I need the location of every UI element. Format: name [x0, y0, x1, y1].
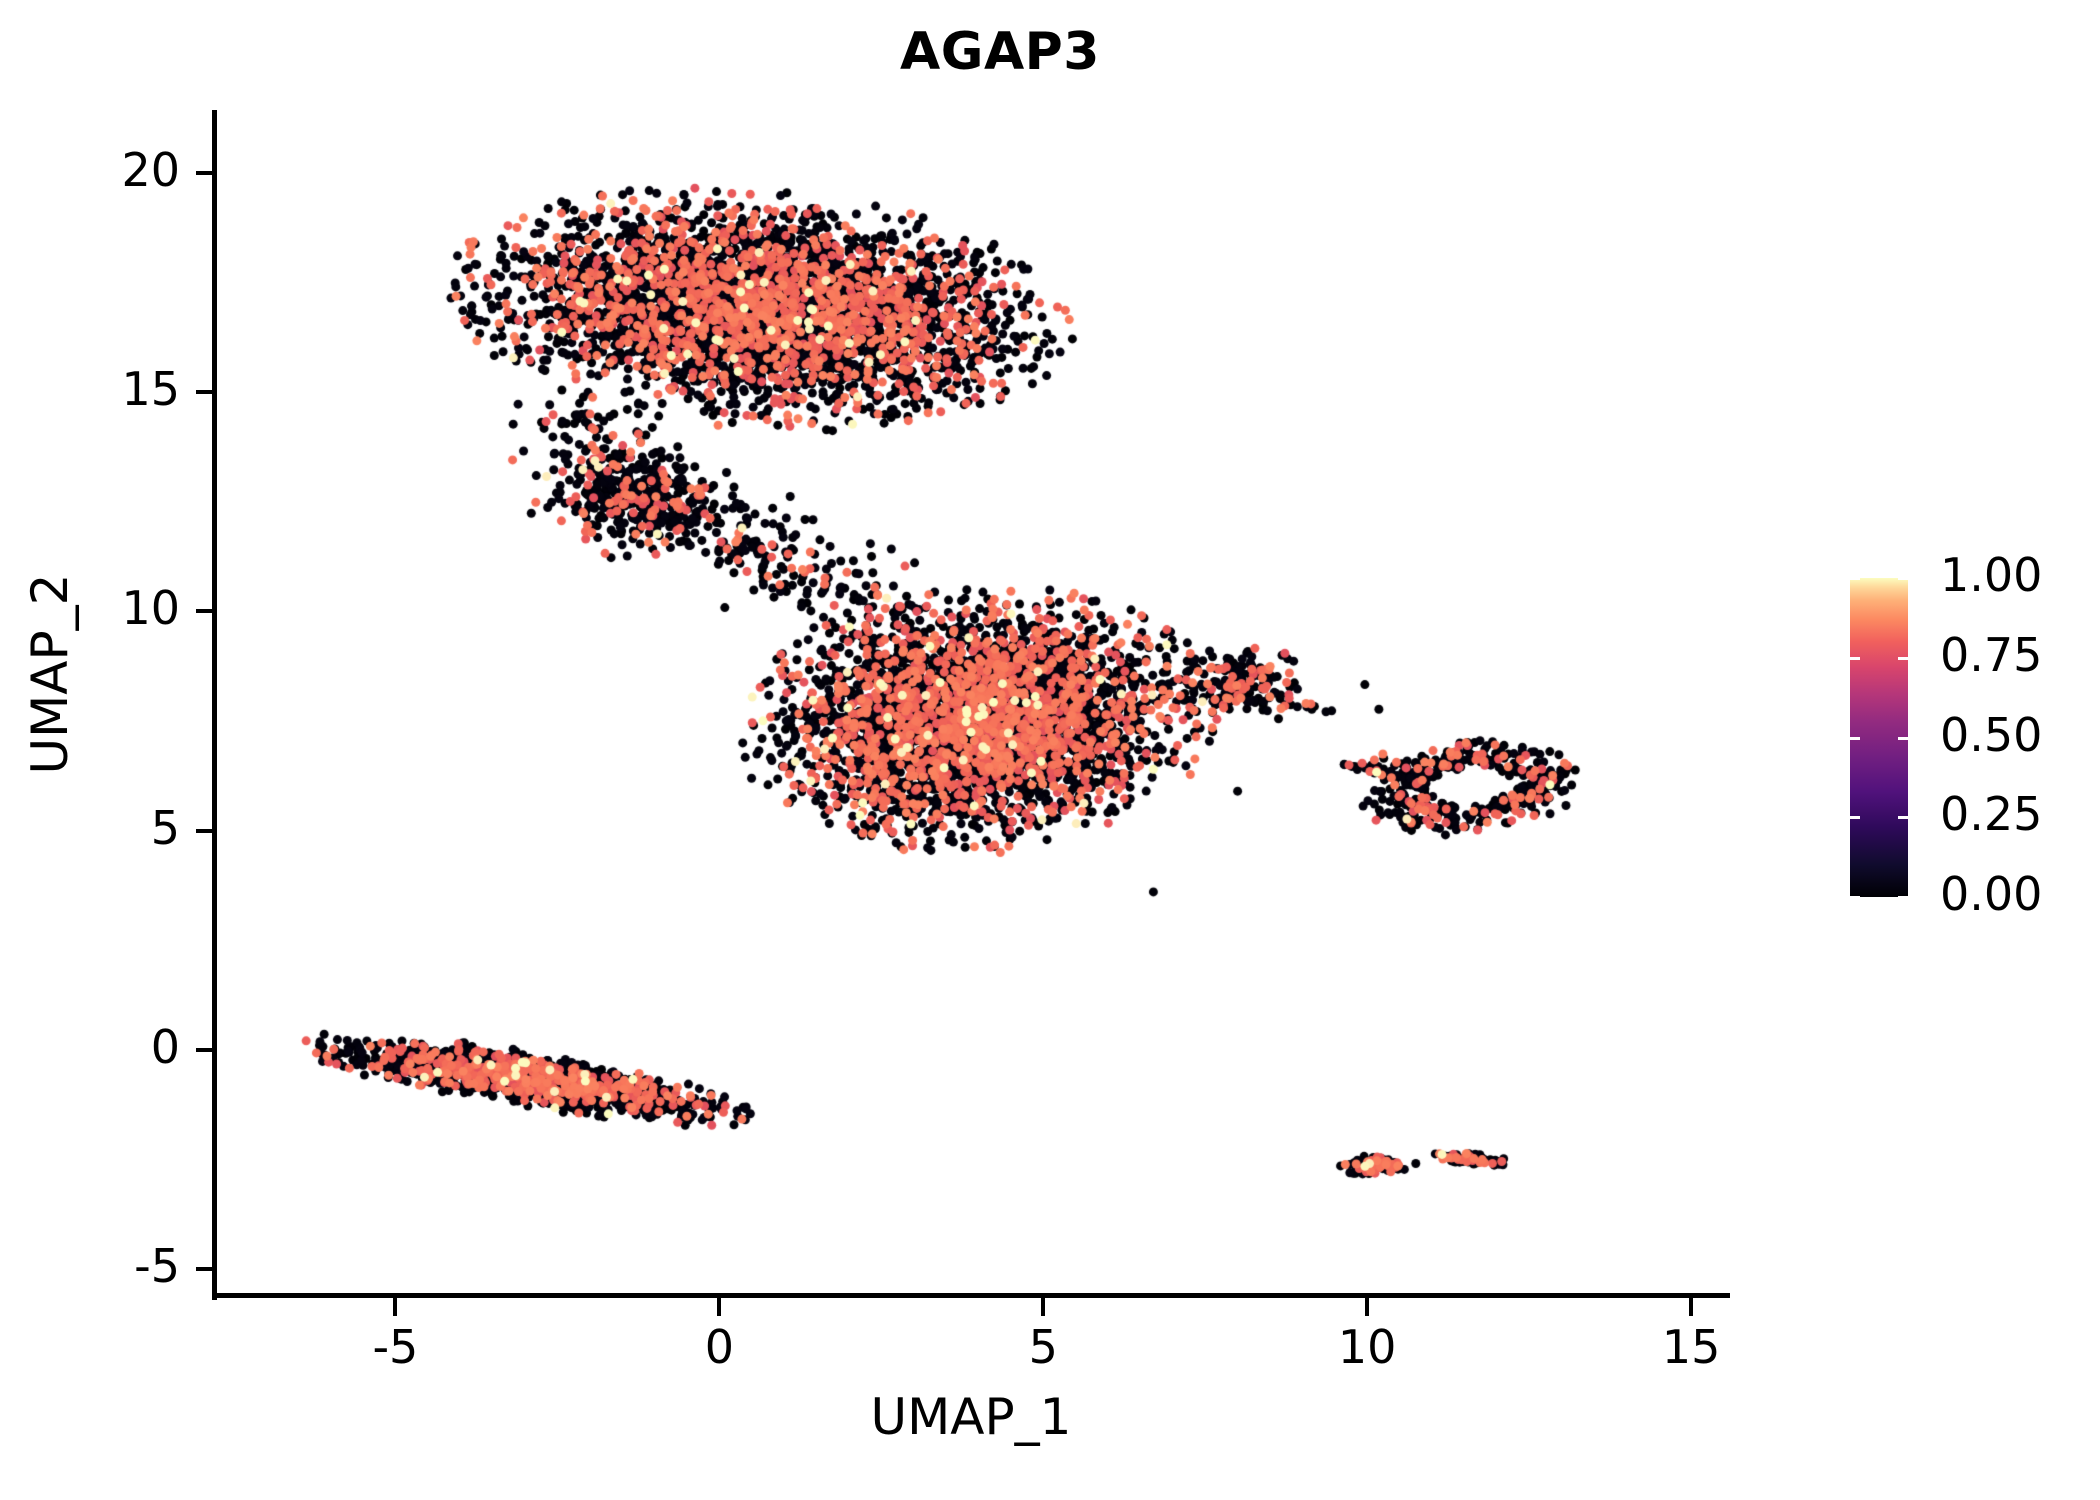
colorbar-tick-mark [1850, 896, 1860, 899]
colorbar-tick-mark [1898, 816, 1908, 819]
colorbar-tick-label: 1.00 [1940, 548, 2042, 602]
x-tick-mark [1689, 1298, 1693, 1316]
y-tick-label: -5 [30, 1239, 180, 1293]
y-tick-mark [196, 1267, 214, 1271]
colorbar-tick-mark [1898, 737, 1908, 740]
x-tick-label: 15 [1611, 1320, 1771, 1374]
y-axis-label: UMAP_2 [21, 364, 79, 984]
x-tick-mark [1041, 1298, 1045, 1316]
y-tick-mark [196, 829, 214, 833]
y-tick-mark [196, 609, 214, 613]
figure-canvas: AGAP3 -505101520 -5051015 UMAP_1 UMAP_2 … [0, 0, 2100, 1500]
y-tick-label: 0 [30, 1020, 180, 1074]
colorbar-tick-mark [1850, 657, 1860, 660]
y-tick-label: 20 [30, 143, 180, 197]
y-axis-spine [212, 110, 217, 1300]
x-tick-label: 0 [639, 1320, 799, 1374]
x-tick-label: 5 [963, 1320, 1123, 1374]
x-axis-label: UMAP_1 [212, 1388, 1730, 1446]
colorbar-tick-label: 0.25 [1940, 787, 2042, 841]
colorbar-tick-mark [1898, 657, 1908, 660]
x-tick-mark [717, 1298, 721, 1316]
y-tick-mark [196, 1048, 214, 1052]
x-axis-spine [212, 1293, 1730, 1298]
colorbar-tick-label: 0.00 [1940, 867, 2042, 921]
x-tick-mark [1365, 1298, 1369, 1316]
x-tick-mark [393, 1298, 397, 1316]
colorbar-tick-label: 0.50 [1940, 708, 2042, 762]
x-tick-label: -5 [315, 1320, 475, 1374]
colorbar-tick-label: 0.75 [1940, 628, 2042, 682]
colorbar-tick-mark [1850, 737, 1860, 740]
x-tick-label: 10 [1287, 1320, 1447, 1374]
colorbar-tick-mark [1898, 896, 1908, 899]
colorbar-tick-mark [1898, 577, 1908, 580]
colorbar-tick-mark [1850, 577, 1860, 580]
y-tick-mark [196, 171, 214, 175]
colorbar-tick-mark [1850, 816, 1860, 819]
scatter-plot-canvas [0, 0, 2100, 1500]
y-tick-mark [196, 390, 214, 394]
